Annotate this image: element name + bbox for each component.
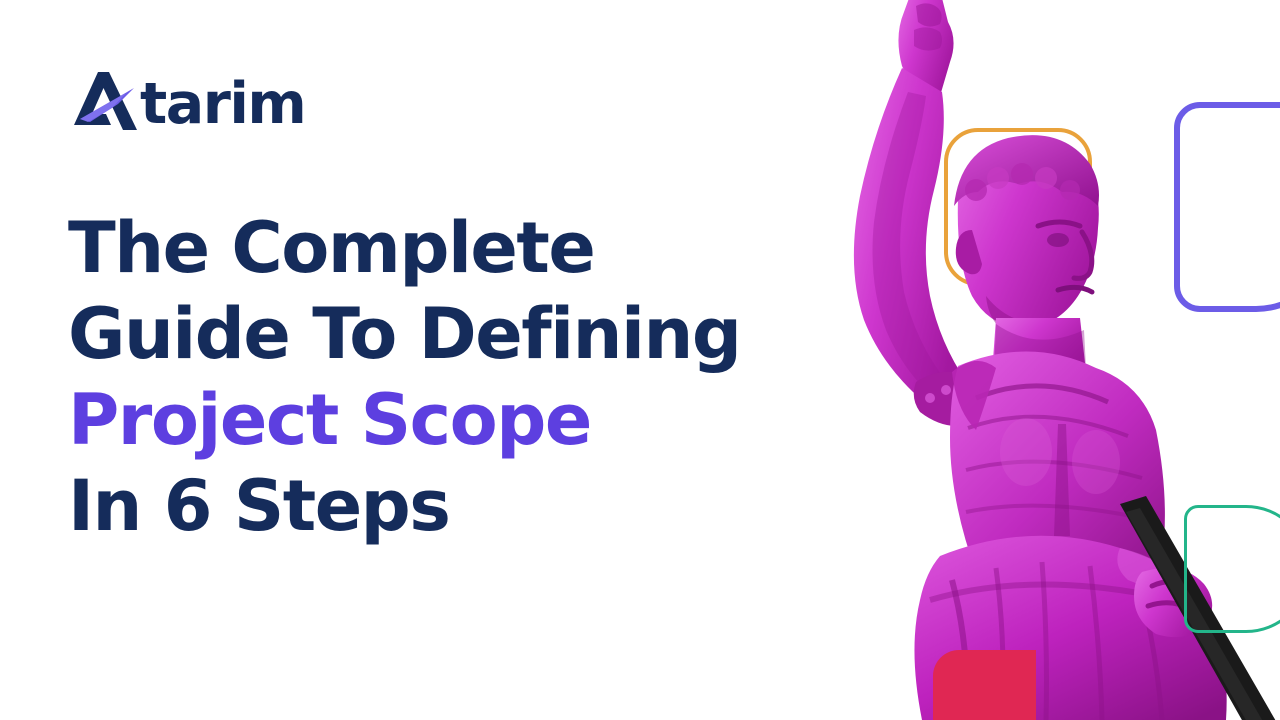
headline-line-4: In 6 Steps [68, 463, 808, 549]
crimson-block-shape [933, 650, 1036, 720]
headline-line-1: The Complete [68, 205, 808, 291]
cover-canvas: tarim The Complete Guide To Defining Pro… [0, 0, 1280, 720]
teal-rounded-shape-outline-icon [1184, 505, 1280, 633]
headline-line-2: Guide To Defining [68, 291, 808, 377]
orange-rounded-square-outline-icon [944, 128, 1092, 286]
atarim-logo[interactable]: tarim [68, 66, 305, 136]
headline-line-3: Project Scope [68, 377, 808, 463]
page-title: The Complete Guide To Defining Project S… [68, 205, 808, 549]
logo-wordmark: tarim [140, 76, 305, 133]
atarim-a-swoosh-icon [68, 70, 142, 132]
purple-rounded-square-outline-icon [1174, 102, 1280, 312]
